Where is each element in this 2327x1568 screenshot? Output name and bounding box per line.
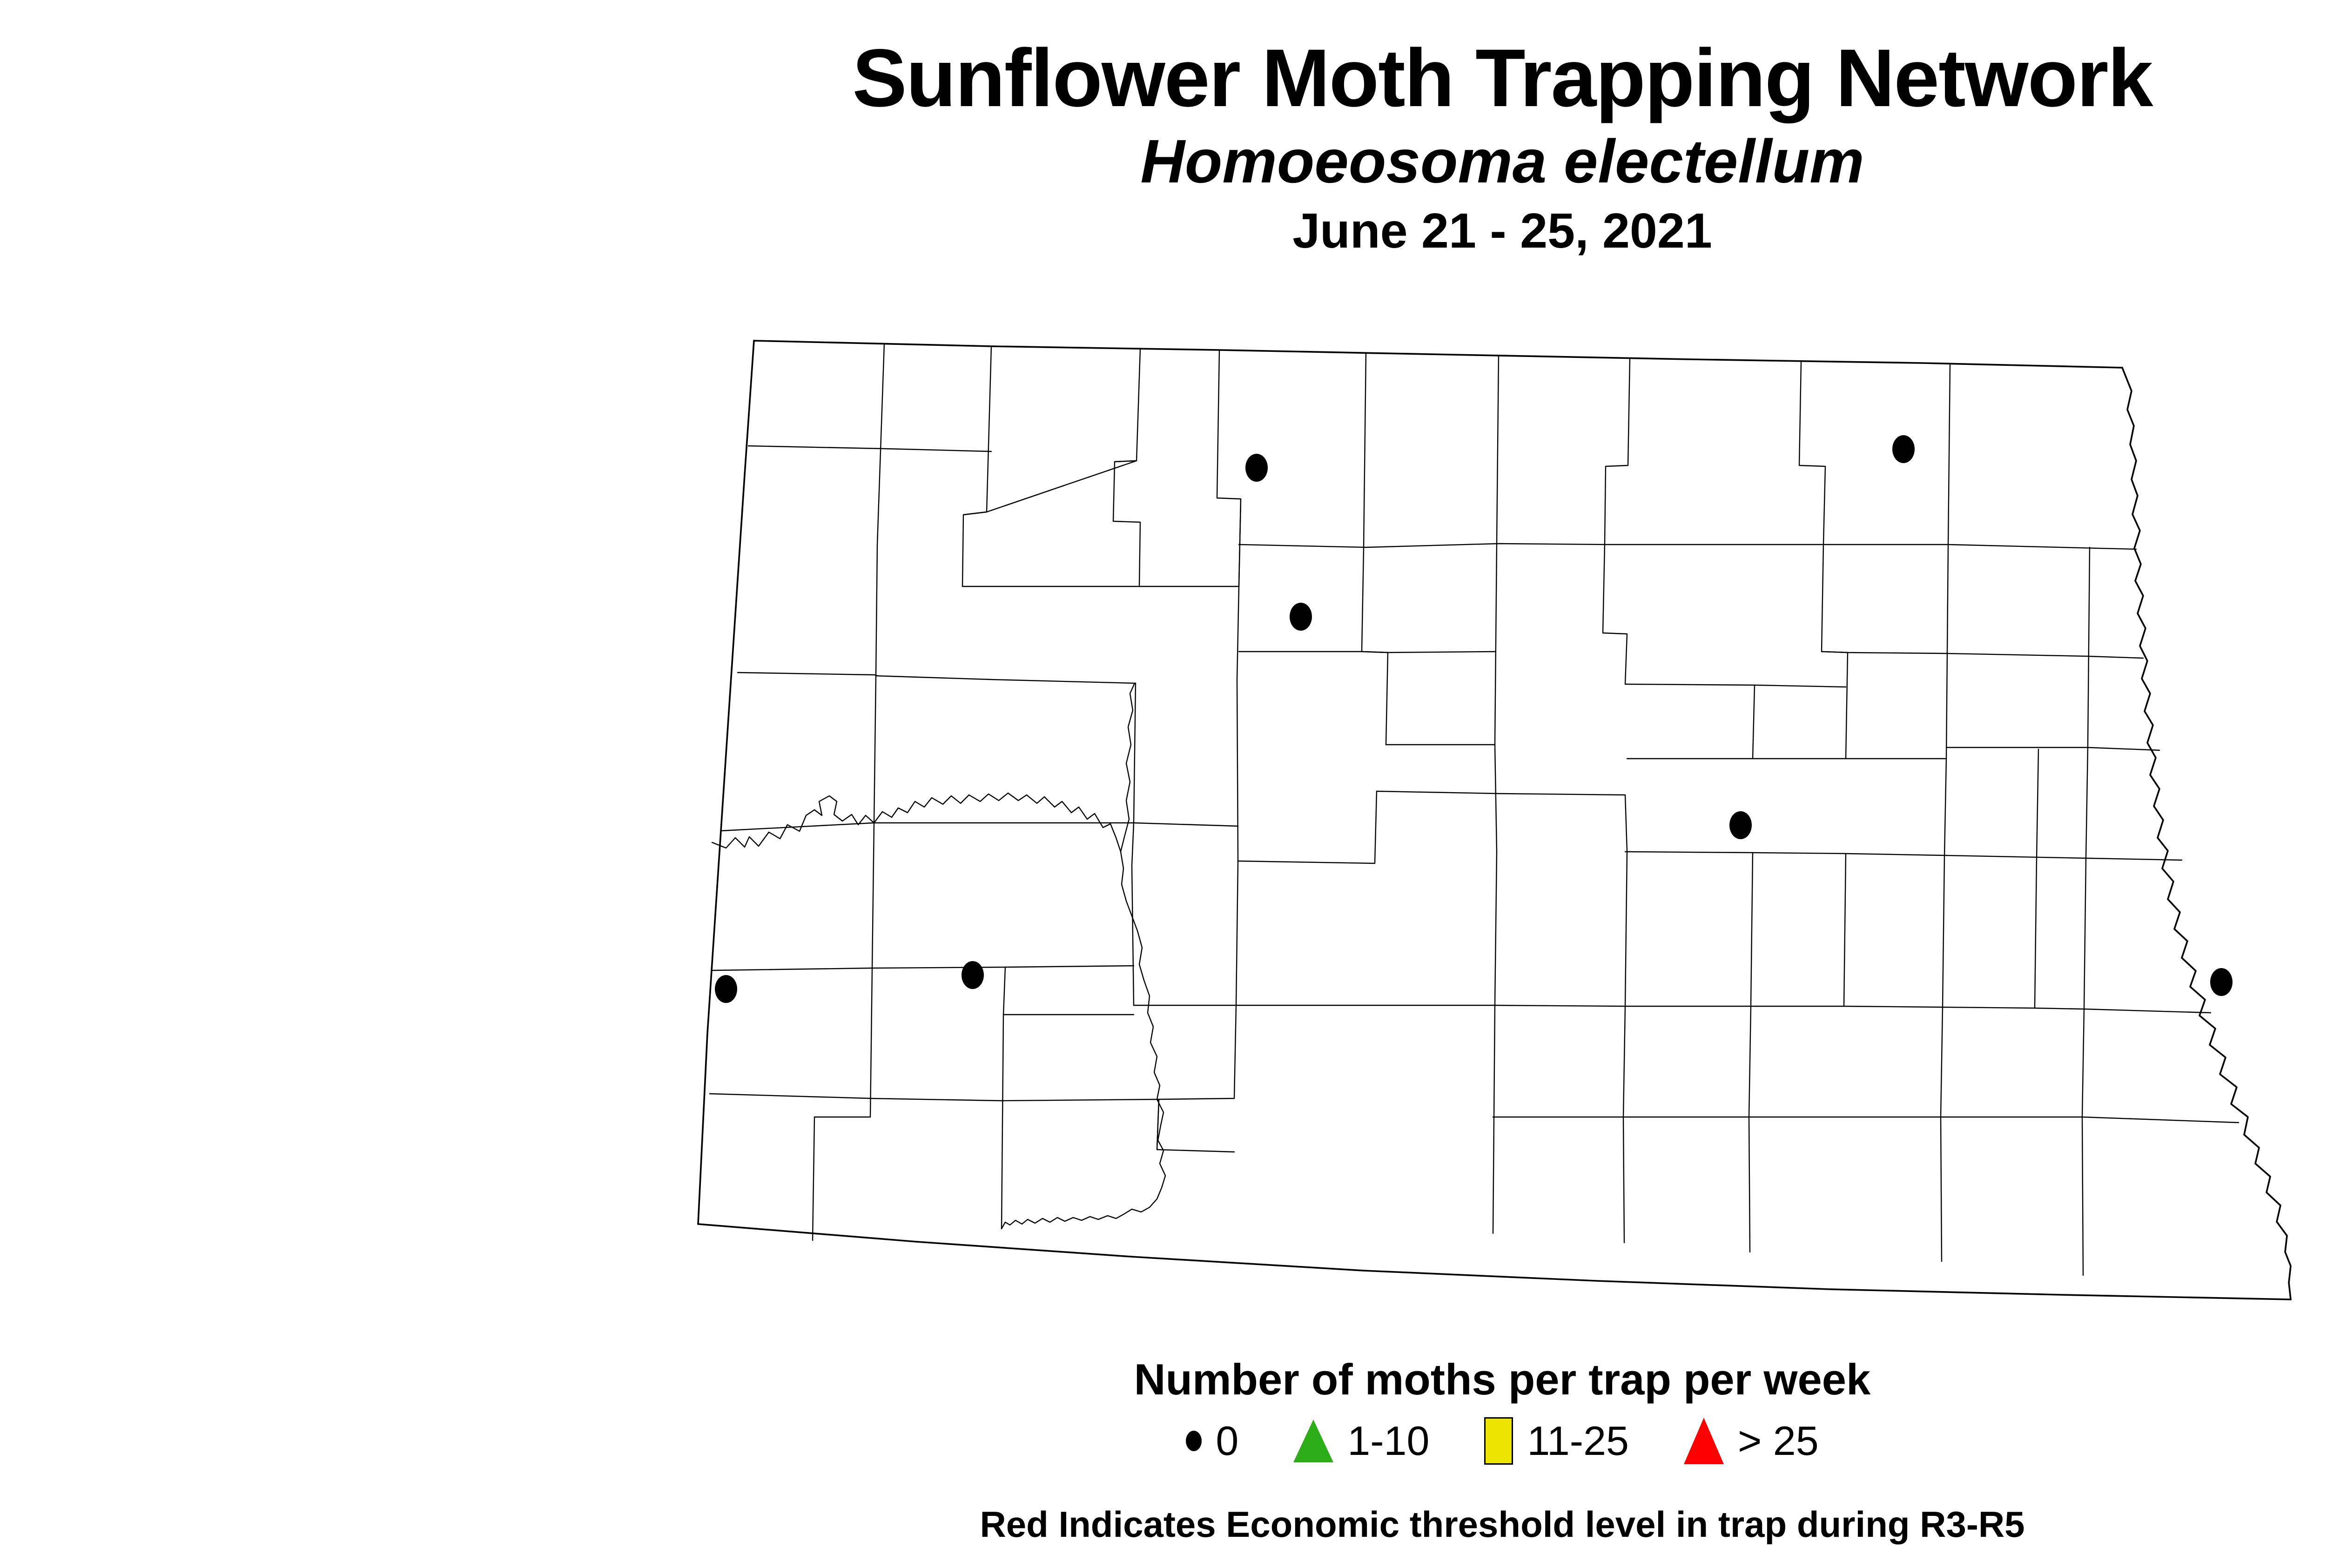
- county-line: [721, 823, 1238, 831]
- legend-item-mid[interactable]: 11-25: [1484, 1417, 1629, 1465]
- county-line: [877, 343, 884, 545]
- county-line: [874, 545, 877, 823]
- trap-points-group[interactable]: [715, 435, 2233, 1003]
- county-line: [712, 966, 1134, 970]
- lake-sakakawea: [712, 793, 1165, 1229]
- trap-point[interactable]: [2210, 968, 2233, 996]
- state-border-north: [754, 341, 2122, 368]
- county-line: [1625, 852, 2182, 860]
- county-line: [2037, 749, 2038, 859]
- county-line: [1003, 967, 1134, 1015]
- county-line: [1238, 791, 1497, 863]
- county-line: [1605, 358, 1630, 544]
- north-dakota-map[interactable]: [666, 326, 2308, 1317]
- county-line: [1948, 365, 1950, 545]
- date-range: June 21 - 25, 2021: [0, 205, 2327, 257]
- legend-label: 11-25: [1527, 1420, 1629, 1461]
- state-border-west: [698, 341, 754, 1224]
- county-line: [710, 1094, 1002, 1101]
- county-line: [1386, 745, 1497, 852]
- county-line: [1002, 1015, 1003, 1229]
- county-line: [962, 346, 991, 586]
- county-line: [1623, 1006, 1625, 1243]
- county-line: [1753, 685, 1755, 759]
- county-line: [2088, 547, 2090, 747]
- county-line: [1941, 1007, 1943, 1261]
- county-line: [1944, 759, 1946, 855]
- legend-label: > 25: [1738, 1420, 1819, 1461]
- trap-point[interactable]: [1245, 454, 1268, 482]
- trap-point[interactable]: [1290, 603, 1312, 631]
- county-line: [1134, 1005, 2211, 1013]
- legend-note: Red Indicates Economic threshold level i…: [0, 1503, 2327, 1546]
- county-line: [1497, 794, 1627, 852]
- dot-icon: [1186, 1431, 1202, 1451]
- legend-item-zero[interactable]: 0: [1186, 1420, 1238, 1461]
- county-line: [1749, 1006, 1751, 1252]
- legend-heading: Number of moths per trap per week: [0, 1354, 2327, 1405]
- county-line: [738, 673, 877, 676]
- missouri-river-upper: [1121, 683, 1135, 852]
- county-line: [872, 823, 874, 968]
- red-triangle-icon: [1684, 1418, 1724, 1464]
- county-line: [2035, 859, 2037, 1008]
- county-line: [2084, 858, 2086, 1009]
- green-triangle-icon: [1293, 1420, 1333, 1462]
- yellow-square-icon: [1484, 1417, 1513, 1465]
- county-line: [1236, 861, 1238, 1005]
- county-line: [1362, 549, 1388, 745]
- county-line: [2082, 1009, 2084, 1275]
- county-boundaries-group: [710, 343, 2239, 1275]
- county-line: [1799, 362, 1825, 544]
- trap-point[interactable]: [1892, 435, 1915, 463]
- state-outline-group: [698, 341, 2291, 1299]
- species-name: Homoeosoma electellum: [0, 129, 2327, 194]
- county-line: [1497, 356, 1499, 544]
- state-border-south: [698, 1224, 2291, 1299]
- county-line: [814, 968, 872, 1117]
- county-line: [1493, 1117, 2239, 1123]
- county-line: [1822, 652, 2143, 658]
- county-line: [813, 1117, 814, 1240]
- county-line: [963, 461, 1137, 515]
- county-line: [1495, 544, 1497, 745]
- legend-label: 0: [1216, 1420, 1238, 1461]
- county-line: [1943, 855, 1944, 1007]
- county-line: [962, 499, 1241, 586]
- county-line: [2086, 747, 2088, 858]
- county-line: [1822, 544, 1848, 759]
- state-border-east-red-river: [2122, 368, 2291, 1299]
- county-line: [1239, 544, 2136, 549]
- county-line: [1946, 545, 1948, 759]
- county-line: [1132, 823, 1134, 1005]
- county-line: [1239, 652, 1495, 653]
- legend-item-high[interactable]: > 25: [1684, 1418, 1819, 1464]
- legend: 0 1-10 11-25 > 25: [0, 1417, 2327, 1465]
- county-line: [1495, 852, 1497, 1005]
- county-line: [1157, 1005, 1236, 1150]
- county-line: [1217, 350, 1241, 586]
- legend-label: 1-10: [1347, 1420, 1429, 1461]
- county-line: [1751, 853, 1753, 1006]
- county-line: [1844, 854, 1846, 1006]
- county-line: [1625, 852, 1627, 1005]
- map-page: Sunflower Moth Trapping Network Homoeoso…: [0, 0, 2327, 1568]
- title-block: Sunflower Moth Trapping Network Homoeoso…: [0, 37, 2327, 257]
- county-line: [1237, 586, 1239, 861]
- trap-point[interactable]: [1729, 811, 1752, 839]
- water-features-group: [712, 683, 1165, 1229]
- county-line: [876, 676, 1136, 683]
- trap-point[interactable]: [715, 975, 737, 1003]
- county-line: [1134, 683, 1136, 823]
- county-line: [1493, 1005, 1495, 1233]
- county-line: [1625, 684, 1846, 687]
- county-line: [1002, 1099, 1234, 1152]
- county-line: [1946, 747, 2159, 750]
- map-svg: [666, 326, 2308, 1317]
- county-line: [1364, 353, 1366, 549]
- county-line: [1603, 544, 1627, 684]
- county-line: [748, 446, 991, 451]
- trap-point[interactable]: [962, 961, 984, 989]
- legend-item-low[interactable]: 1-10: [1293, 1420, 1429, 1462]
- page-title: Sunflower Moth Trapping Network: [0, 37, 2327, 119]
